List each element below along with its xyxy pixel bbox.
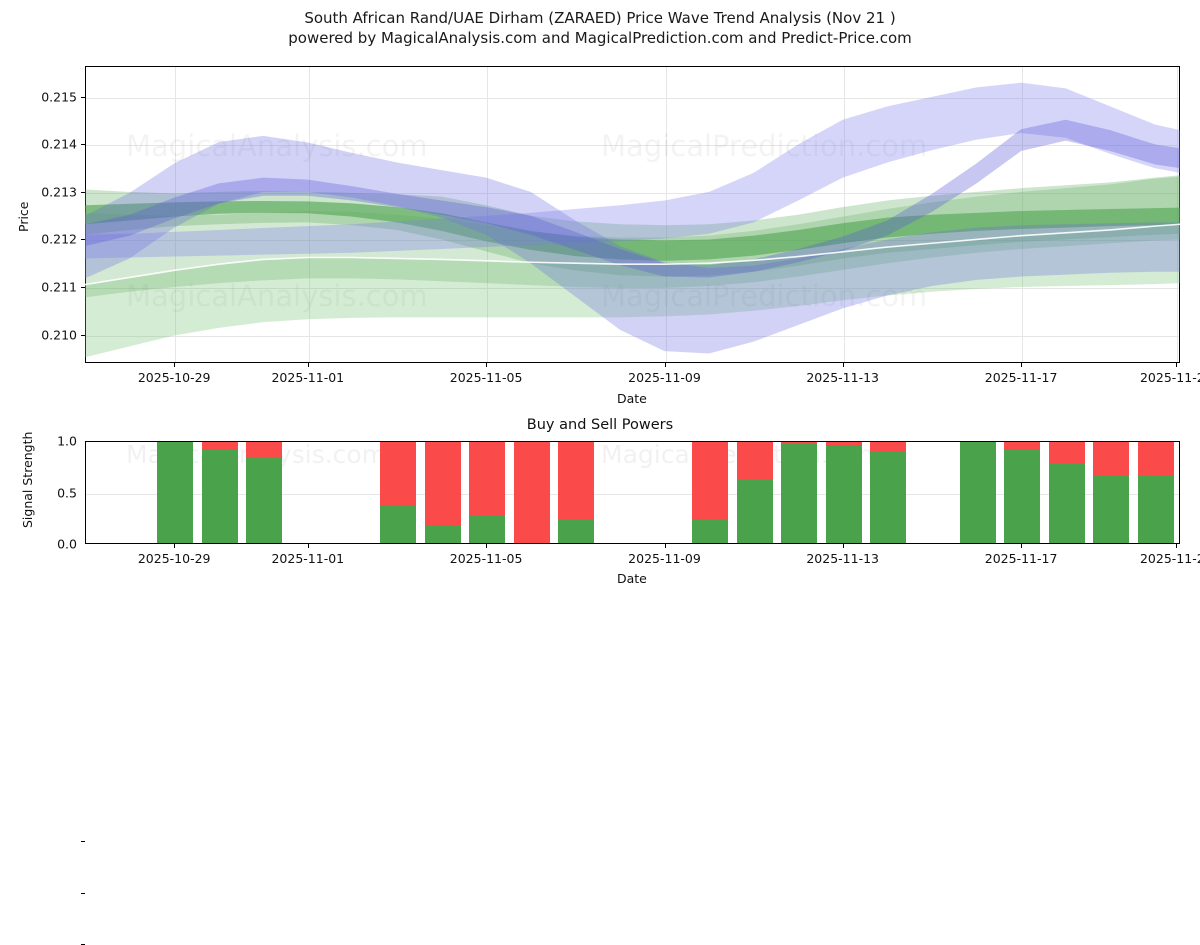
price-x-tick-label: 2025-11-17 (985, 370, 1058, 385)
price-y-tickmark (81, 192, 85, 193)
signal-x-tickmark (174, 544, 175, 548)
bar-segment-sell (781, 441, 817, 444)
bar-segment-buy (781, 444, 817, 543)
buy-sell-powers-panel: Buy and Sell Powers Signal Strength Magi… (0, 400, 1200, 600)
signal-y-tick-label: 1.0 (57, 434, 77, 449)
chart-page: South African Rand/UAE Dirham (ZARAED) P… (0, 0, 1200, 600)
signal-x-tick-label: 2025-11-09 (628, 551, 701, 566)
bar-column[interactable] (870, 441, 906, 543)
price-x-tickmark (1176, 363, 1177, 367)
bar-segment-sell (692, 441, 728, 520)
bar-segment-buy (692, 520, 728, 543)
signal-x-tick-label: 2025-11-13 (806, 551, 879, 566)
bar-segment-sell (202, 441, 238, 450)
price-x-tick-label: 2025-11-01 (271, 370, 344, 385)
bar-segment-buy (1093, 475, 1129, 543)
bar-segment-buy (1138, 475, 1174, 543)
price-x-tickmark (174, 363, 175, 367)
price-x-tickmark (486, 363, 487, 367)
bar-column[interactable] (960, 441, 996, 543)
bar-column[interactable] (558, 441, 594, 543)
price-x-tickmark (843, 363, 844, 367)
price-x-tickmark (308, 363, 309, 367)
price-y-tick-label: 0.214 (41, 137, 77, 152)
bar-segment-sell (425, 441, 461, 526)
signal-y-tick-label: 0.0 (57, 537, 77, 552)
bar-segment-buy (558, 520, 594, 543)
price-x-tick-label: 2025-11-21 (1140, 370, 1200, 385)
buy-sell-plot-area: MagicalAnalysis.comMagicalPrediction.com (85, 441, 1180, 544)
bar-segment-sell (1004, 441, 1040, 450)
signal-x-axis-label: Date (617, 571, 647, 586)
signal-y-tickmark (81, 893, 85, 894)
bar-segment-sell (558, 441, 594, 520)
price-x-tickmark (1021, 363, 1022, 367)
bar-segment-buy (380, 505, 416, 543)
buy-sell-title: Buy and Sell Powers (0, 417, 1200, 433)
bar-column[interactable] (380, 441, 416, 543)
signal-x-tickmark (665, 544, 666, 548)
price-y-tickmark (81, 144, 85, 145)
price-x-tick-label: 2025-11-13 (806, 370, 879, 385)
price-x-tickmark (665, 363, 666, 367)
price-wave-bands (85, 66, 1180, 363)
signal-y-tickmark (81, 841, 85, 842)
bar-column[interactable] (1004, 441, 1040, 543)
bar-segment-sell (514, 441, 550, 543)
price-x-tick-label: 2025-10-29 (138, 370, 211, 385)
signal-x-tickmark (486, 544, 487, 548)
bar-column[interactable] (737, 441, 773, 543)
bar-segment-sell (1138, 441, 1174, 475)
bar-column[interactable] (781, 441, 817, 543)
bar-segment-sell (246, 441, 282, 458)
bar-segment-sell (380, 441, 416, 505)
price-y-tick-label: 0.211 (41, 280, 77, 295)
price-y-tickmark (81, 335, 85, 336)
bar-segment-buy (737, 480, 773, 543)
bar-segment-buy (202, 450, 238, 543)
price-y-tick-label: 0.213 (41, 184, 77, 199)
bar-column[interactable] (157, 441, 193, 543)
signal-y-axis-label: Signal Strength (20, 432, 35, 528)
signal-y-tick-label: 0.5 (57, 485, 77, 500)
bar-column[interactable] (246, 441, 282, 543)
bar-segment-sell (469, 441, 505, 515)
price-y-tickmark (81, 287, 85, 288)
bar-segment-buy (960, 441, 996, 543)
price-x-tick-label: 2025-11-09 (628, 370, 701, 385)
signal-x-tickmark (308, 544, 309, 548)
bar-column[interactable] (202, 441, 238, 543)
signal-x-tick-label: 2025-11-05 (450, 551, 523, 566)
bar-segment-buy (246, 458, 282, 544)
bar-segment-buy (826, 445, 862, 543)
bar-segment-buy (1049, 463, 1085, 543)
bar-segment-buy (425, 526, 461, 544)
bar-segment-buy (1004, 450, 1040, 543)
bar-segment-buy (469, 515, 505, 543)
price-y-tick-label: 0.210 (41, 327, 77, 342)
bar-segment-sell (737, 441, 773, 480)
bar-column[interactable] (1138, 441, 1174, 543)
bar-segment-sell (1093, 441, 1129, 475)
signal-x-tickmark (1021, 544, 1022, 548)
bar-column[interactable] (692, 441, 728, 543)
price-y-tick-label: 0.215 (41, 89, 77, 104)
price-y-tickmark (81, 239, 85, 240)
signal-x-tick-label: 2025-11-17 (985, 551, 1058, 566)
signal-x-tick-label: 2025-11-21 (1140, 551, 1200, 566)
bar-segment-buy (870, 452, 906, 543)
signal-x-tick-label: 2025-11-01 (271, 551, 344, 566)
bar-column[interactable] (1093, 441, 1129, 543)
bar-column[interactable] (469, 441, 505, 543)
bar-column[interactable] (425, 441, 461, 543)
price-y-axis-label: Price (16, 202, 31, 233)
bar-segment-sell (826, 441, 862, 445)
bar-column[interactable] (1049, 441, 1085, 543)
bar-segment-sell (1049, 441, 1085, 463)
signal-x-tickmark (1176, 544, 1177, 548)
bar-segment-sell (870, 441, 906, 452)
bar-column[interactable] (514, 441, 550, 543)
bar-column[interactable] (826, 441, 862, 543)
bar-segment-buy (157, 441, 193, 543)
price-x-tick-label: 2025-11-05 (450, 370, 523, 385)
price-y-tickmark (81, 97, 85, 98)
price-wave-panel: Price MagicalAnalysis.comMagicalPredicti… (0, 0, 1200, 400)
price-y-tick-label: 0.212 (41, 232, 77, 247)
signal-x-tickmark (843, 544, 844, 548)
signal-x-tick-label: 2025-10-29 (138, 551, 211, 566)
